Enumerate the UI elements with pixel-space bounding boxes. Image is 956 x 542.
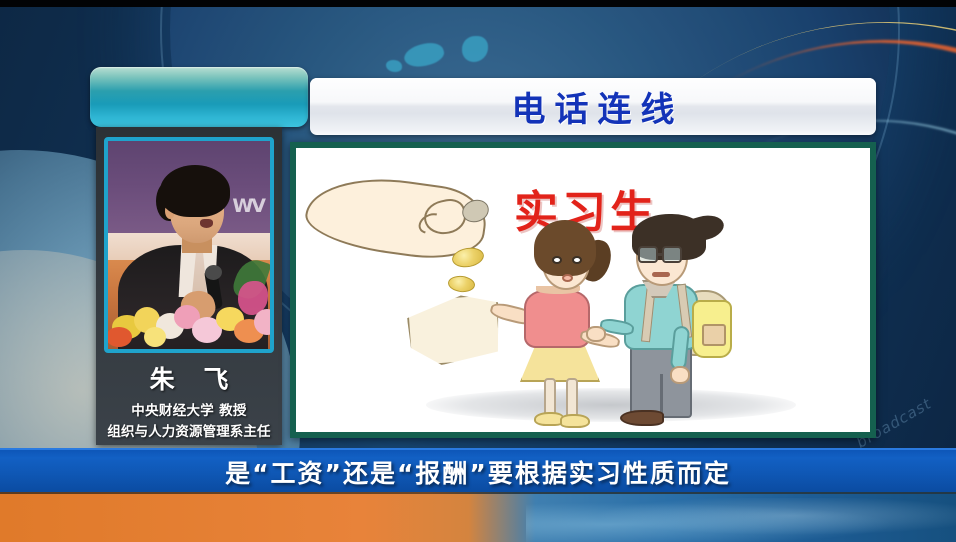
- studio-floor: [0, 494, 956, 542]
- glasses-left-lens-icon: [638, 246, 658, 263]
- guest-photo-frame: WV: [104, 137, 274, 353]
- illustration-panel: 实习生: [290, 142, 876, 438]
- boy-right-hand: [670, 366, 690, 384]
- guest-title-line-2: 组织与人力资源管理系主任: [96, 420, 282, 440]
- boy-left-hand: [586, 326, 606, 342]
- glasses-bridge-icon: [657, 253, 664, 256]
- guest-photo: WV: [108, 141, 270, 349]
- globe-continent-icon: [386, 60, 402, 72]
- glasses-right-lens-icon: [662, 246, 682, 263]
- flower-icon: [254, 309, 274, 335]
- girl-top: [524, 290, 590, 348]
- teal-tab: [90, 67, 308, 127]
- flower-arrangement: [108, 301, 270, 349]
- studio-screen-glow: [526, 498, 956, 542]
- girl-right-eye: [572, 256, 582, 264]
- boy-character: [614, 214, 738, 426]
- segment-title-text: 电话连线: [503, 82, 684, 131]
- headline-text: 是“工资”还是“报酬”要根据实习性质而定: [225, 454, 731, 490]
- guest-title-line-1: 中央财经大学 教授: [96, 399, 282, 419]
- letterbox-bar-top: [0, 0, 956, 7]
- boy-mouth: [652, 272, 670, 277]
- lower-third-banner: 是“工资”还是“报酬”要根据实习性质而定: [0, 448, 956, 494]
- guest-hair: [160, 165, 230, 217]
- guest-mouth: [200, 219, 213, 228]
- segment-title-banner: 电话连线: [310, 78, 876, 135]
- illustration-canvas: 实习生: [296, 148, 870, 432]
- girl-mouth: [562, 274, 573, 282]
- girl-hair: [534, 220, 596, 276]
- guest-panel: WV: [96, 127, 282, 445]
- backpack-pocket: [702, 324, 726, 346]
- broadcast-screen: broadcast 电话连线 WV: [0, 0, 956, 542]
- girl-right-shoe: [560, 414, 590, 428]
- guest-name: 朱 飞: [96, 360, 282, 396]
- boy-shoe: [620, 410, 664, 426]
- girl-left-eye: [552, 256, 562, 264]
- photo-backdrop-logo: WV: [232, 195, 264, 217]
- flower-icon: [144, 327, 166, 347]
- flower-icon: [106, 327, 132, 347]
- coin-icon: [447, 275, 476, 294]
- paper-icon: [406, 293, 503, 367]
